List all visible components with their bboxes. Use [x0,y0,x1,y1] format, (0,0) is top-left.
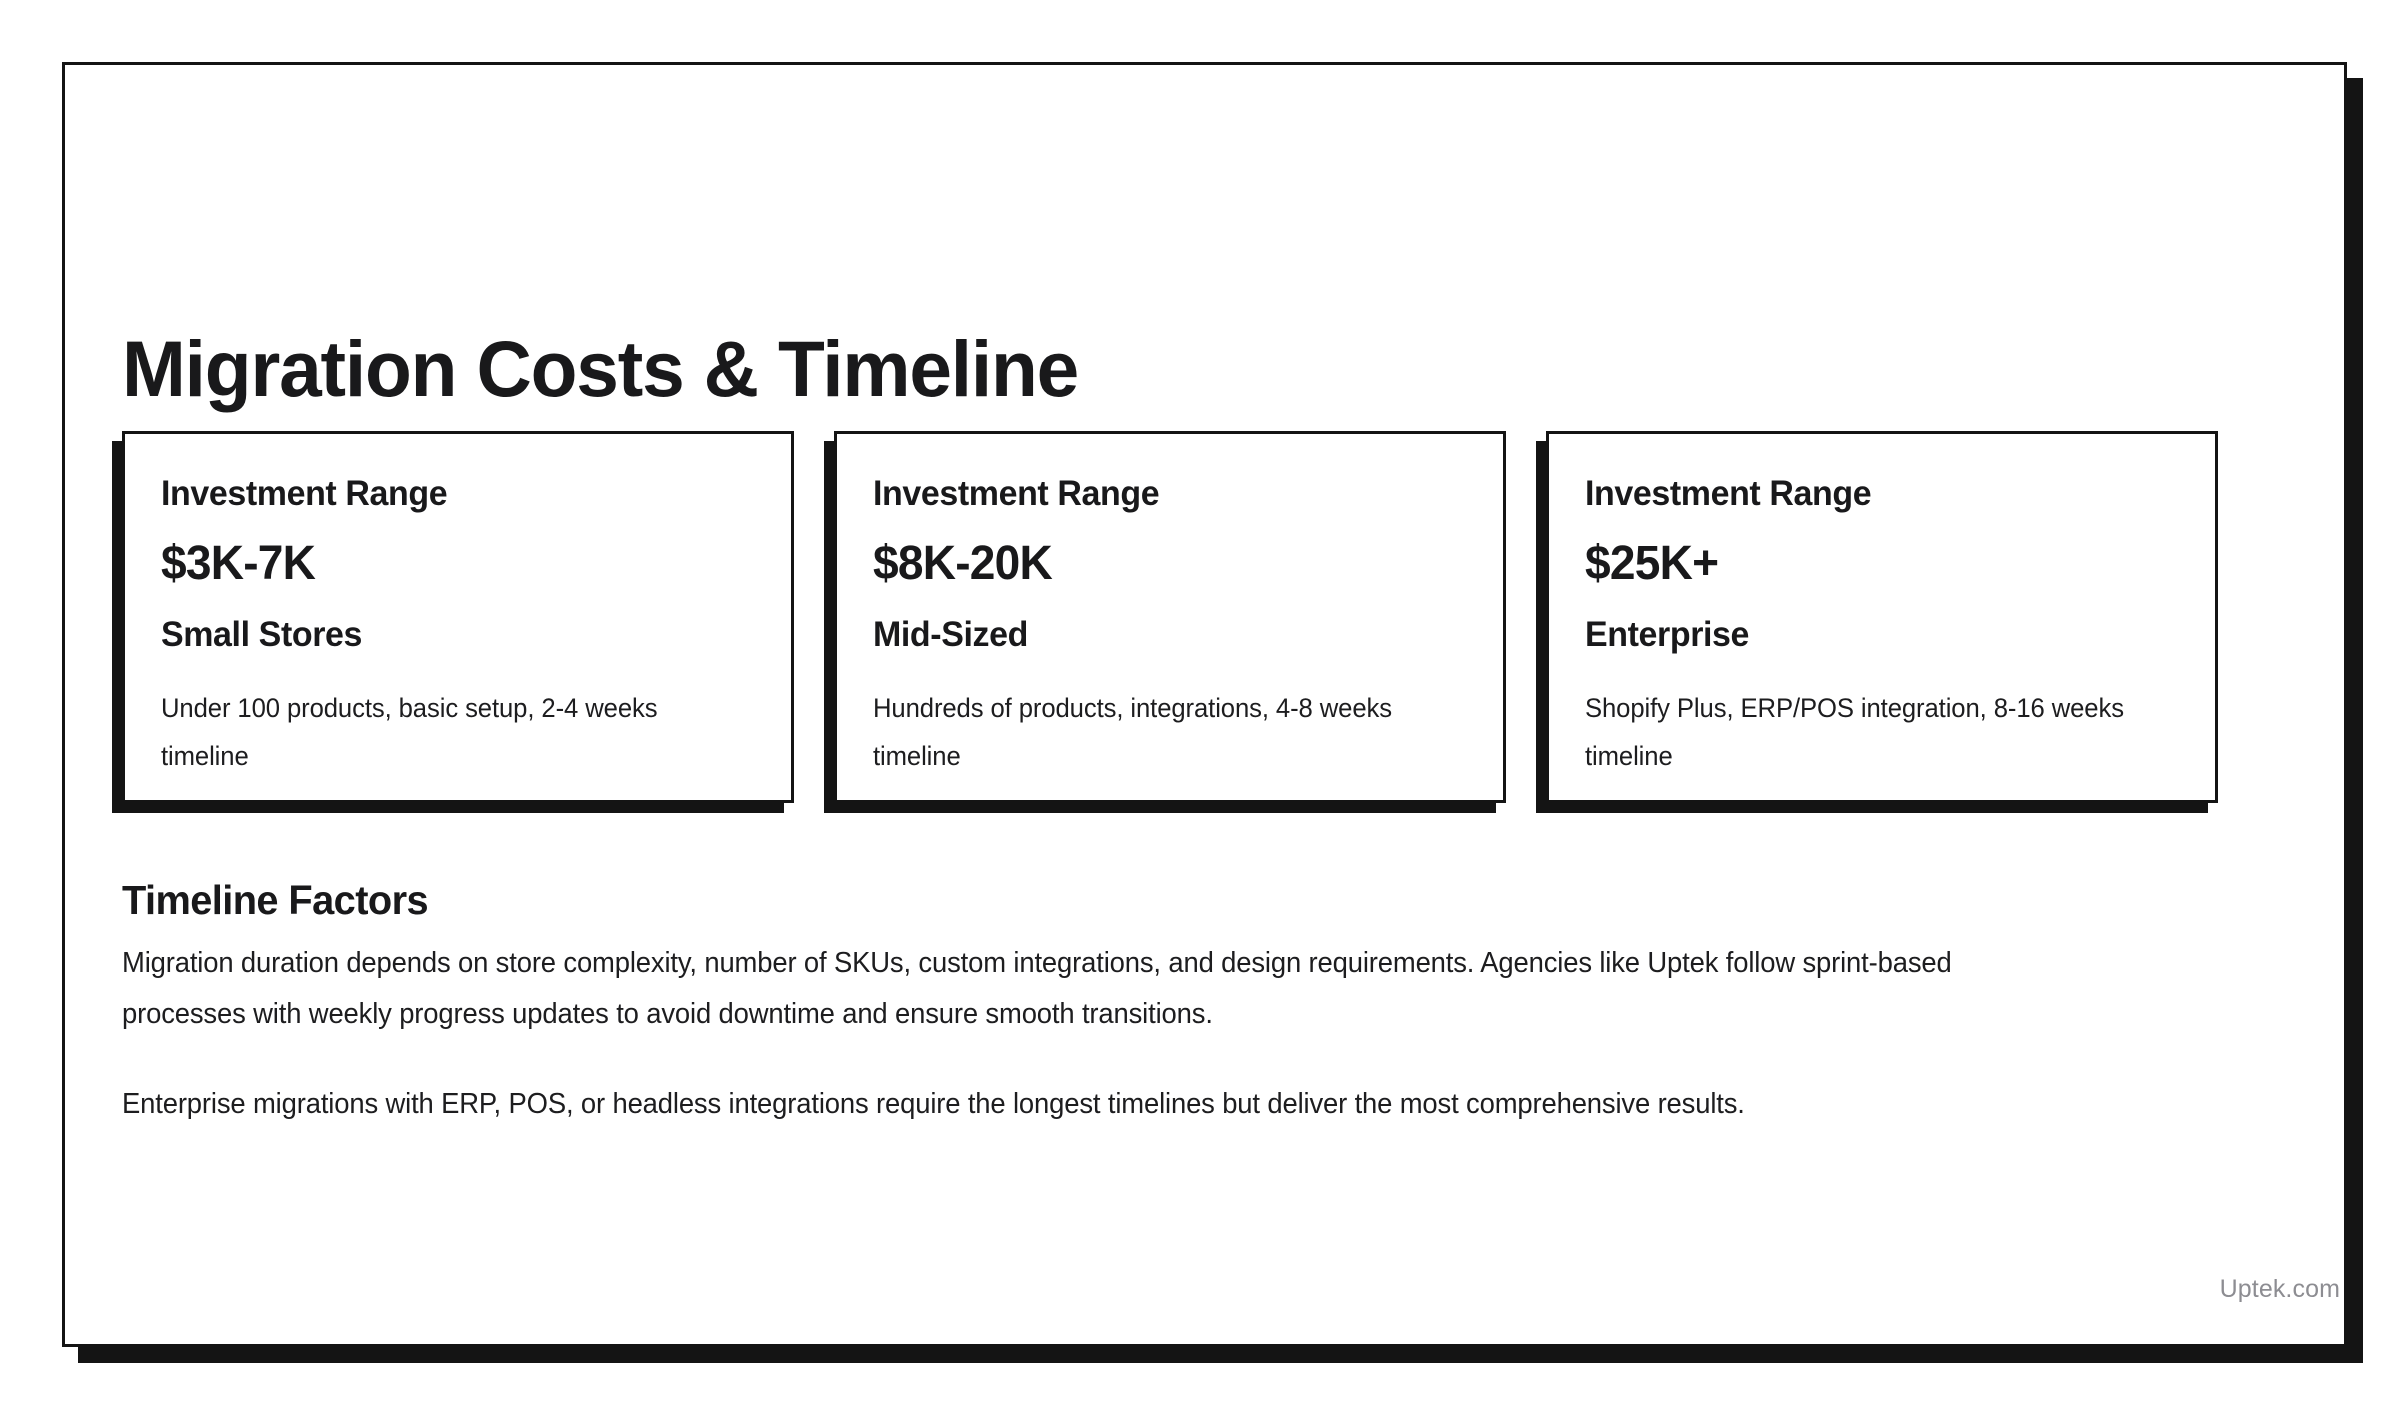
card-eyebrow: Investment Range [873,476,1449,511]
timeline-factors-body: Migration duration depends on store comp… [122,938,2142,1170]
card-description: Hundreds of products, integrations, 4-8 … [873,684,1437,780]
investment-card-small-stores[interactable]: Investment Range $3K-7K Small Stores Und… [122,431,794,803]
card-eyebrow: Investment Range [1585,476,2161,511]
watermark-uptek: Uptek.com [2220,1277,2340,1302]
card-body: Investment Range $3K-7K Small Stores Und… [122,431,794,803]
card-amount: $3K-7K [161,540,731,588]
card-tier: Enterprise [1585,617,2161,652]
investment-card-row: Investment Range $3K-7K Small Stores Und… [122,431,2218,803]
card-description: Shopify Plus, ERP/POS integration, 8-16 … [1585,684,2149,780]
paragraph: Migration duration depends on store comp… [122,938,2065,1039]
card-description: Under 100 products, basic setup, 2-4 wee… [161,684,725,780]
card-body: Investment Range $8K-20K Mid-Sized Hundr… [834,431,1506,803]
card-body: Investment Range $25K+ Enterprise Shopif… [1546,431,2218,803]
section-heading-timeline-factors: Timeline Factors [122,880,428,921]
paragraph: Enterprise migrations with ERP, POS, or … [122,1079,2065,1130]
card-amount: $8K-20K [873,540,1443,588]
investment-card-enterprise[interactable]: Investment Range $25K+ Enterprise Shopif… [1546,431,2218,803]
card-eyebrow: Investment Range [161,476,737,511]
card-tier: Small Stores [161,617,737,652]
card-tier: Mid-Sized [873,617,1449,652]
investment-card-mid-sized[interactable]: Investment Range $8K-20K Mid-Sized Hundr… [834,431,1506,803]
card-amount: $25K+ [1585,540,2155,588]
page-title: Migration Costs & Timeline [122,329,1078,408]
